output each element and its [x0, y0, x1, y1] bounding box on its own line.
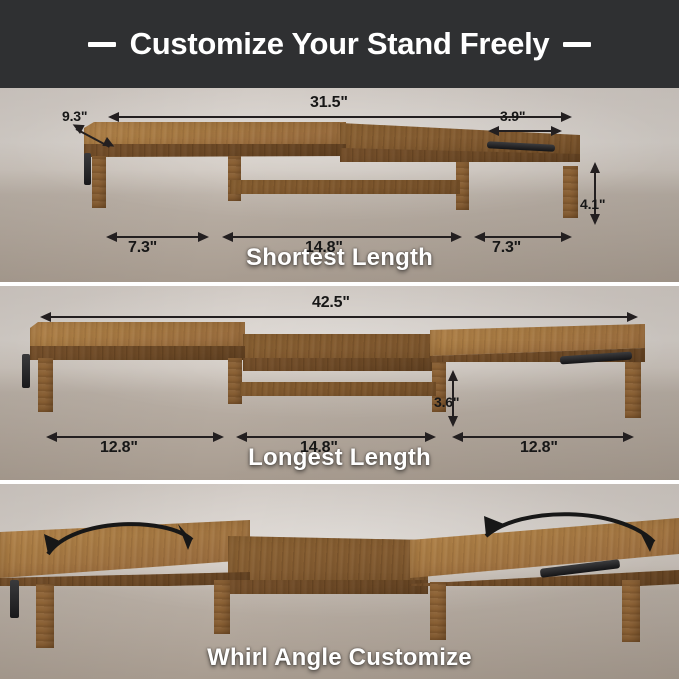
- dim-arrow-riser-down-icon: [448, 416, 458, 427]
- dash-right-icon: [563, 42, 591, 47]
- dim-label-side-depth: 3.9": [500, 108, 525, 124]
- lower-shelf-center: [230, 180, 460, 194]
- lower-shelf-center-2: [240, 382, 436, 396]
- caption-whirl-angle: Whirl Angle Customize: [0, 644, 679, 672]
- dim-line-center-section: [226, 236, 458, 238]
- caption-longest-length: Longest Length: [0, 444, 679, 472]
- clamp-left-icon-2: [22, 354, 30, 388]
- dim-arrow-center-right-icon: [451, 232, 462, 242]
- leg-right-inner-3: [430, 582, 446, 640]
- dim-arrow-height-up-icon: [590, 162, 600, 173]
- stand-front-edge-left: [84, 144, 346, 157]
- clamp-left-icon: [84, 153, 91, 185]
- dim-arrow-center2-right-icon: [425, 432, 436, 442]
- leg-left-inner-2: [228, 358, 242, 404]
- dim-label-depth: 9.3": [62, 108, 87, 124]
- stand-front-edge-center-2: [243, 358, 433, 371]
- dim-arrow-right-sec-right-icon: [561, 232, 572, 242]
- dim-arrow-side-left-icon: [488, 126, 499, 136]
- panel-whirl-angle: Whirl Angle Customize: [0, 484, 679, 679]
- dim-arrow-total-left-icon: [108, 112, 119, 122]
- dim-line-total-width-2: [44, 316, 634, 318]
- panel-longest-length: 42.5" 3.6" 12.8" 14.8" 12.8" Longest Len…: [0, 286, 679, 480]
- dim-line-right-section-2: [456, 436, 630, 438]
- dim-label-total-width: 31.5": [310, 94, 348, 112]
- dim-arrow-center2-left-icon: [236, 432, 247, 442]
- clamp-left-icon-3: [10, 580, 19, 618]
- dim-arrow-right2-left-icon: [452, 432, 463, 442]
- dim-arrow-center-left-icon: [222, 232, 233, 242]
- dim-label-total-width-2: 42.5": [312, 294, 350, 312]
- leg-far-right: [563, 166, 578, 218]
- leg-left-inner: [228, 156, 241, 201]
- dim-arrow-total2-right-icon: [627, 312, 638, 322]
- dim-line-right-section: [478, 236, 568, 238]
- header-banner: Customize Your Stand Freely: [0, 0, 679, 88]
- leg-far-right-2: [625, 362, 641, 418]
- dim-label-height: 4.1": [580, 196, 605, 212]
- page-title: Customize Your Stand Freely: [130, 26, 550, 62]
- dim-line-side-depth: [492, 130, 558, 132]
- dim-arrow-total-right-icon: [561, 112, 572, 122]
- dim-arrow-left-sec-left-icon: [106, 232, 117, 242]
- dim-label-riser-height: 3.6": [434, 394, 459, 410]
- leg-far-right-3: [622, 580, 640, 642]
- stand-front-edge-center-3: [228, 580, 428, 594]
- dash-left-icon: [88, 42, 116, 47]
- dim-arrow-right-sec-left-icon: [474, 232, 485, 242]
- leg-far-left-2: [38, 358, 53, 412]
- dim-arrow-left-sec-right-icon: [198, 232, 209, 242]
- leg-far-left-3: [36, 584, 54, 648]
- panel-shortest-length: 31.5" 9.3" 3.9" 4.1" 7.3" 14.8" 7.3" Sho…: [0, 88, 679, 282]
- leg-left-inner-3: [214, 580, 230, 634]
- dim-line-left-section: [110, 236, 205, 238]
- dim-arrow-side-right-icon: [551, 126, 562, 136]
- product-infographic: Customize Your Stand Freely 31.5" 9.3" 3: [0, 0, 679, 679]
- caption-shortest-length: Shortest Length: [0, 244, 679, 272]
- dim-line-center-section-2: [240, 436, 432, 438]
- stand-front-edge-left-2: [30, 346, 245, 360]
- leg-far-left: [92, 156, 106, 208]
- dim-arrow-total2-left-icon: [40, 312, 51, 322]
- dim-arrow-left2-left-icon: [46, 432, 57, 442]
- dim-line-left-section-2: [50, 436, 220, 438]
- dim-arrow-right2-right-icon: [623, 432, 634, 442]
- dim-arrow-height-down-icon: [590, 214, 600, 225]
- dim-arrow-left2-right-icon: [213, 432, 224, 442]
- dim-arrow-riser-up-icon: [448, 370, 458, 381]
